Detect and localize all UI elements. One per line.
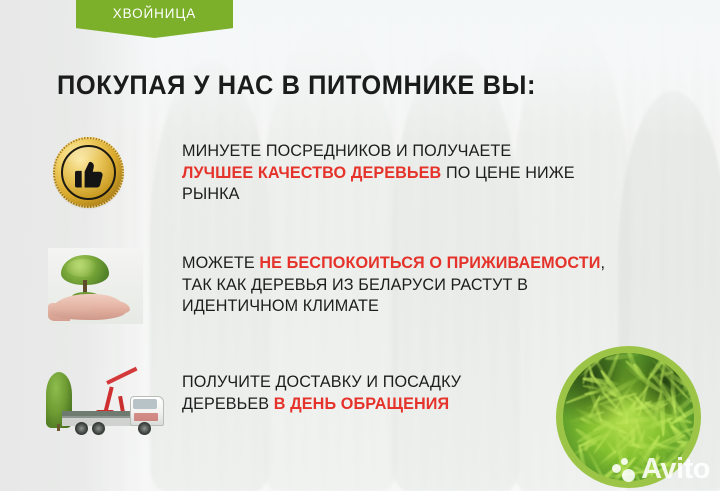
benefit-icon-slot [40, 248, 182, 330]
benefit-line: РЫНКА [182, 184, 702, 206]
benefit-row: МИНУЕТЕ ПОСРЕДНИКОВ И ПОЛУЧАЕТЕ ЛУЧШЕЕ К… [40, 136, 702, 218]
hand-holding-tree-icon [48, 248, 143, 324]
highlight-segment: В ДЕНЬ ОБРАЩЕНИЯ [274, 395, 449, 413]
benefit-line: ПОЛУЧИТЕ ДОСТАВКУ И ПОСАДКУ [182, 372, 702, 394]
benefit-line: МОЖЕТЕ НЕ БЕСПОКОИТЬСЯ О ПРИЖИВАЕМОСТИ, [182, 253, 702, 275]
gold-thumbs-up-medal-icon [55, 139, 122, 206]
benefit-line: МИНУЕТЕ ПОСРЕДНИКОВ И ПОЛУЧАЕТЕ [182, 141, 702, 163]
benefit-line: ДЕРЕВЬЕВ В ДЕНЬ ОБРАЩЕНИЯ [182, 394, 702, 416]
text-segment: ДЕРЕВЬЕВ [182, 395, 274, 413]
text-segment: , [601, 254, 606, 272]
page-title: ПОКУПАЯ У НАС В ПИТОМНИКЕ ВЫ: [57, 70, 536, 101]
benefit-line: ЛУЧШЕЕ КАЧЕСТВО ДЕРЕВЬЕВ ПО ЦЕНЕ НИЖЕ [182, 163, 702, 185]
benefit-icon-slot [40, 362, 182, 444]
benefit-line: ИДЕНТИЧНОМ КЛИМАТЕ [182, 296, 702, 318]
crane-truck-with-tree-icon [42, 366, 170, 442]
benefit-row: ПОЛУЧИТЕ ДОСТАВКУ И ПОСАДКУ ДЕРЕВЬЕВ В Д… [40, 362, 702, 444]
benefit-text: МИНУЕТЕ ПОСРЕДНИКОВ И ПОЛУЧАЕТЕ ЛУЧШЕЕ К… [182, 136, 702, 206]
benefit-line: ТАК КАК ДЕРЕВЬЯ ИЗ БЕЛАРУСИ РАСТУТ В [182, 275, 702, 297]
benefit-icon-slot [40, 136, 182, 218]
highlight-segment: НЕ БЕСПОКОИТЬСЯ О ПРИЖИВАЕМОСТИ [259, 254, 600, 272]
foliage-frond [605, 353, 640, 361]
benefit-text: МОЖЕТЕ НЕ БЕСПОКОИТЬСЯ О ПРИЖИВАЕМОСТИ, … [182, 248, 702, 318]
text-segment: МИНУЕТЕ ПОСРЕДНИКОВ И ПОЛУЧАЕТЕ [182, 142, 511, 160]
text-segment: ПОЛУЧИТЕ ДОСТАВКУ И ПОСАДКУ [182, 373, 461, 391]
text-segment: РЫНКА [182, 185, 240, 203]
text-segment: МОЖЕТЕ [182, 254, 259, 272]
brand-badge-label: ХВОЙНИЦА [113, 0, 196, 21]
benefit-row: МОЖЕТЕ НЕ БЕСПОКОИТЬСЯ О ПРИЖИВАЕМОСТИ, … [40, 248, 702, 330]
benefit-text: ПОЛУЧИТЕ ДОСТАВКУ И ПОСАДКУ ДЕРЕВЬЕВ В Д… [182, 362, 702, 415]
text-segment: ПО ЦЕНЕ НИЖЕ [441, 164, 574, 182]
text-segment: ТАК КАК ДЕРЕВЬЯ ИЗ БЕЛАРУСИ РАСТУТ В [182, 276, 528, 294]
advertisement-banner: ХВОЙНИЦА ПОКУПАЯ У НАС В ПИТОМНИКЕ ВЫ: М… [0, 0, 720, 491]
highlight-segment: ЛУЧШЕЕ КАЧЕСТВО ДЕРЕВЬЕВ [182, 164, 441, 182]
text-segment: ИДЕНТИЧНОМ КЛИМАТЕ [182, 297, 379, 315]
